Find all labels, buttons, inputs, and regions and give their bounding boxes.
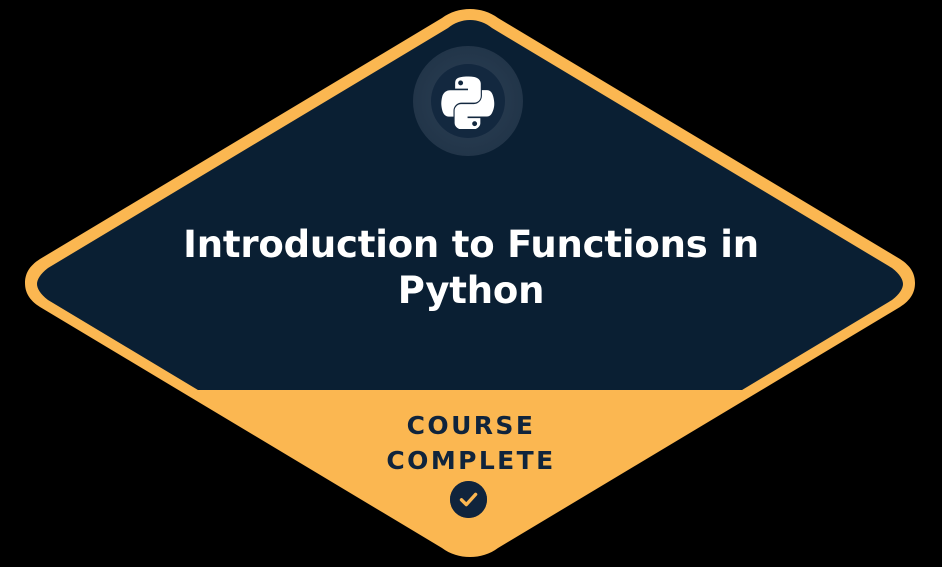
python-logo-icon bbox=[440, 73, 496, 129]
badge-canvas: Introduction to Functions in Python COUR… bbox=[0, 0, 942, 567]
emblem-container bbox=[413, 46, 523, 156]
course-complete-line-1: COURSE bbox=[221, 408, 721, 443]
course-complete-line-2: COMPLETE bbox=[221, 443, 721, 478]
page-title: Introduction to Functions in Python bbox=[121, 222, 821, 314]
check-circle-icon bbox=[450, 481, 487, 518]
status-badge: COURSE COMPLETE bbox=[221, 408, 721, 478]
title-container: Introduction to Functions in Python bbox=[121, 222, 821, 314]
